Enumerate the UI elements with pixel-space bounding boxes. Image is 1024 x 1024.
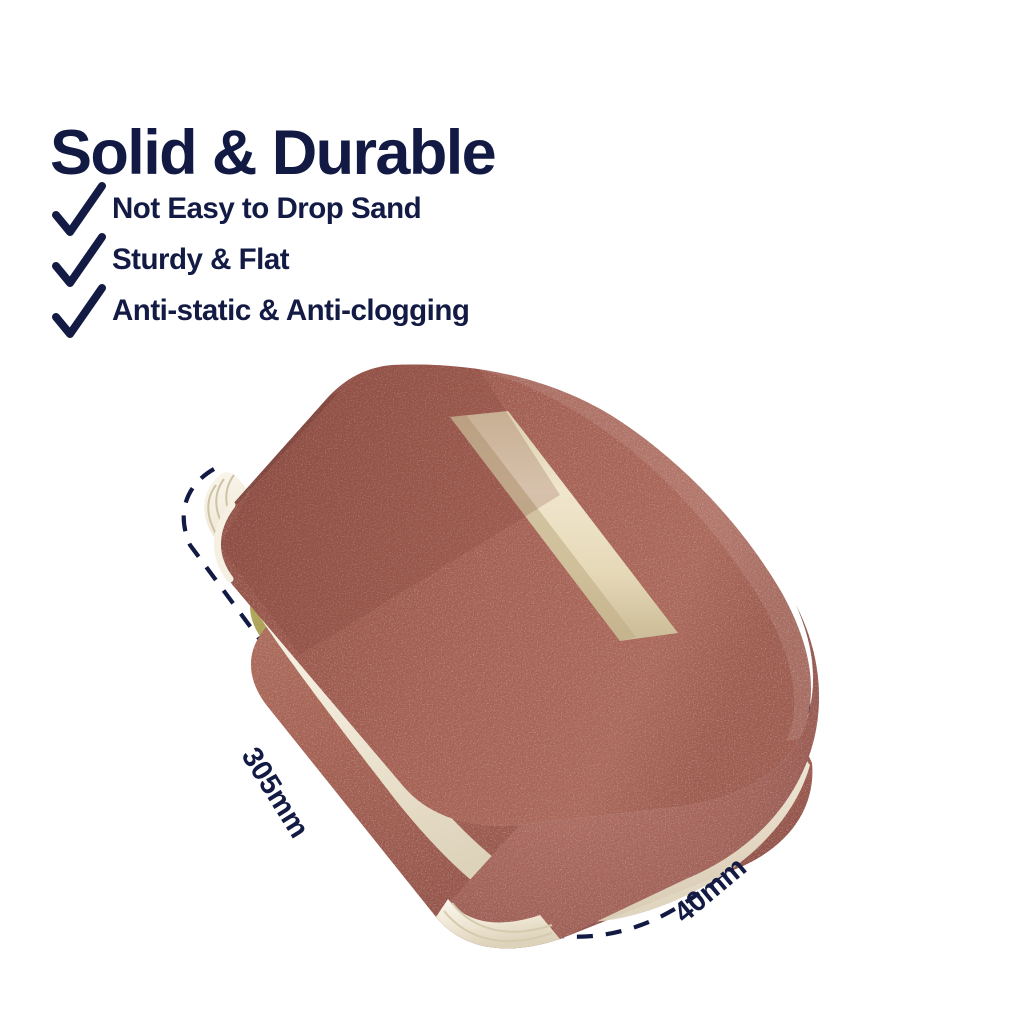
list-item-label: Anti-static & Anti-clogging bbox=[112, 294, 469, 328]
infographic-page: Solid & Durable Not Easy to Drop Sand St… bbox=[0, 0, 1024, 1024]
list-item: Sturdy & Flat bbox=[52, 243, 672, 294]
product-photo: DR 14 L bbox=[0, 355, 1024, 975]
belt-top-face bbox=[204, 355, 827, 826]
page-title: Solid & Durable bbox=[50, 120, 495, 186]
list-item: Anti-static & Anti-clogging bbox=[52, 294, 672, 345]
feature-list: Not Easy to Drop Sand Sturdy & Flat Anti… bbox=[52, 192, 672, 345]
list-item-label: Sturdy & Flat bbox=[112, 243, 289, 277]
list-item-label: Not Easy to Drop Sand bbox=[112, 192, 421, 226]
check-icon bbox=[52, 284, 108, 342]
list-item: Not Easy to Drop Sand bbox=[52, 192, 672, 243]
check-icon bbox=[52, 182, 108, 240]
check-icon bbox=[52, 233, 108, 291]
